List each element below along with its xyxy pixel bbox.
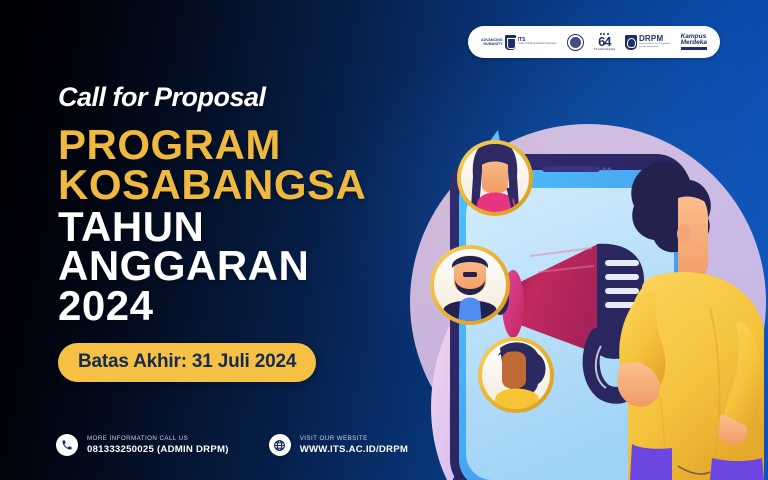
kampus-merdeka-logo: Kampus Merdeka	[681, 34, 707, 50]
its-seal-logo	[567, 34, 584, 51]
its-wordmark: ITS Institut Teknologi Sepuluh Nopember	[518, 38, 557, 46]
contact-phone-value: 081333250025 (ADMIN DRPM)	[87, 444, 229, 456]
poster-canvas: ADVANCINGHUMANITY ITS Institut Teknologi…	[0, 0, 768, 480]
headline-line-tahun-anggaran: TAHUN ANGGARAN	[58, 207, 458, 285]
contact-website-value: WWW.ITS.AC.ID/DRPM	[300, 444, 408, 456]
phone-icon	[56, 434, 78, 456]
contact-website[interactable]: VISIT OUR WEBSITE WWW.ITS.AC.ID/DRPM	[269, 434, 408, 456]
contact-phone-label: MORE INFORMATION CALL US	[87, 434, 229, 443]
advancing-humanity-tagline: ADVANCINGHUMANITY	[481, 38, 503, 47]
globe-icon	[269, 434, 291, 456]
drpm-shield-icon	[625, 35, 637, 50]
contact-phone[interactable]: MORE INFORMATION CALL US 081333250025 (A…	[56, 434, 229, 456]
seal-inner-icon	[570, 37, 581, 48]
headline-line-kosabangsa: KOSABANGSA	[58, 165, 458, 204]
avatar-woman-afro	[478, 337, 554, 413]
contact-phone-text: MORE INFORMATION CALL US 081333250025 (A…	[87, 434, 229, 455]
contact-website-text: VISIT OUR WEBSITE WWW.ITS.AC.ID/DRPM	[300, 434, 408, 455]
headline-line-year: 2024	[58, 286, 458, 325]
contact-website-label: VISIT OUR WEBSITE	[300, 434, 408, 443]
kicker-call-for-proposal: Call for Proposal	[58, 84, 458, 111]
drpm-logo: DRPM Direktorat Riset dan Pengabdian Kep…	[625, 35, 671, 50]
partner-logo-bar: ADVANCINGHUMANITY ITS Institut Teknologi…	[468, 26, 720, 58]
its-shield-icon	[505, 35, 516, 50]
footer-contact-bar: MORE INFORMATION CALL US 081333250025 (A…	[56, 434, 408, 456]
kampus-merdeka-underline	[681, 47, 707, 50]
headline-block: Call for Proposal PROGRAM KOSABANGSA TAH…	[58, 84, 458, 382]
its-64-anniversary-logo: 64 ITS Institut Teknologi	[594, 33, 615, 51]
headline-line-program: PROGRAM	[58, 125, 458, 164]
drpm-wordmark: DRPM Direktorat Riset dan Pengabdian Kep…	[639, 35, 671, 48]
its-advancing-humanity-logo: ADVANCINGHUMANITY ITS Institut Teknologi…	[481, 30, 557, 54]
deadline-badge: Batas Akhir: 31 Juli 2024	[58, 343, 316, 382]
